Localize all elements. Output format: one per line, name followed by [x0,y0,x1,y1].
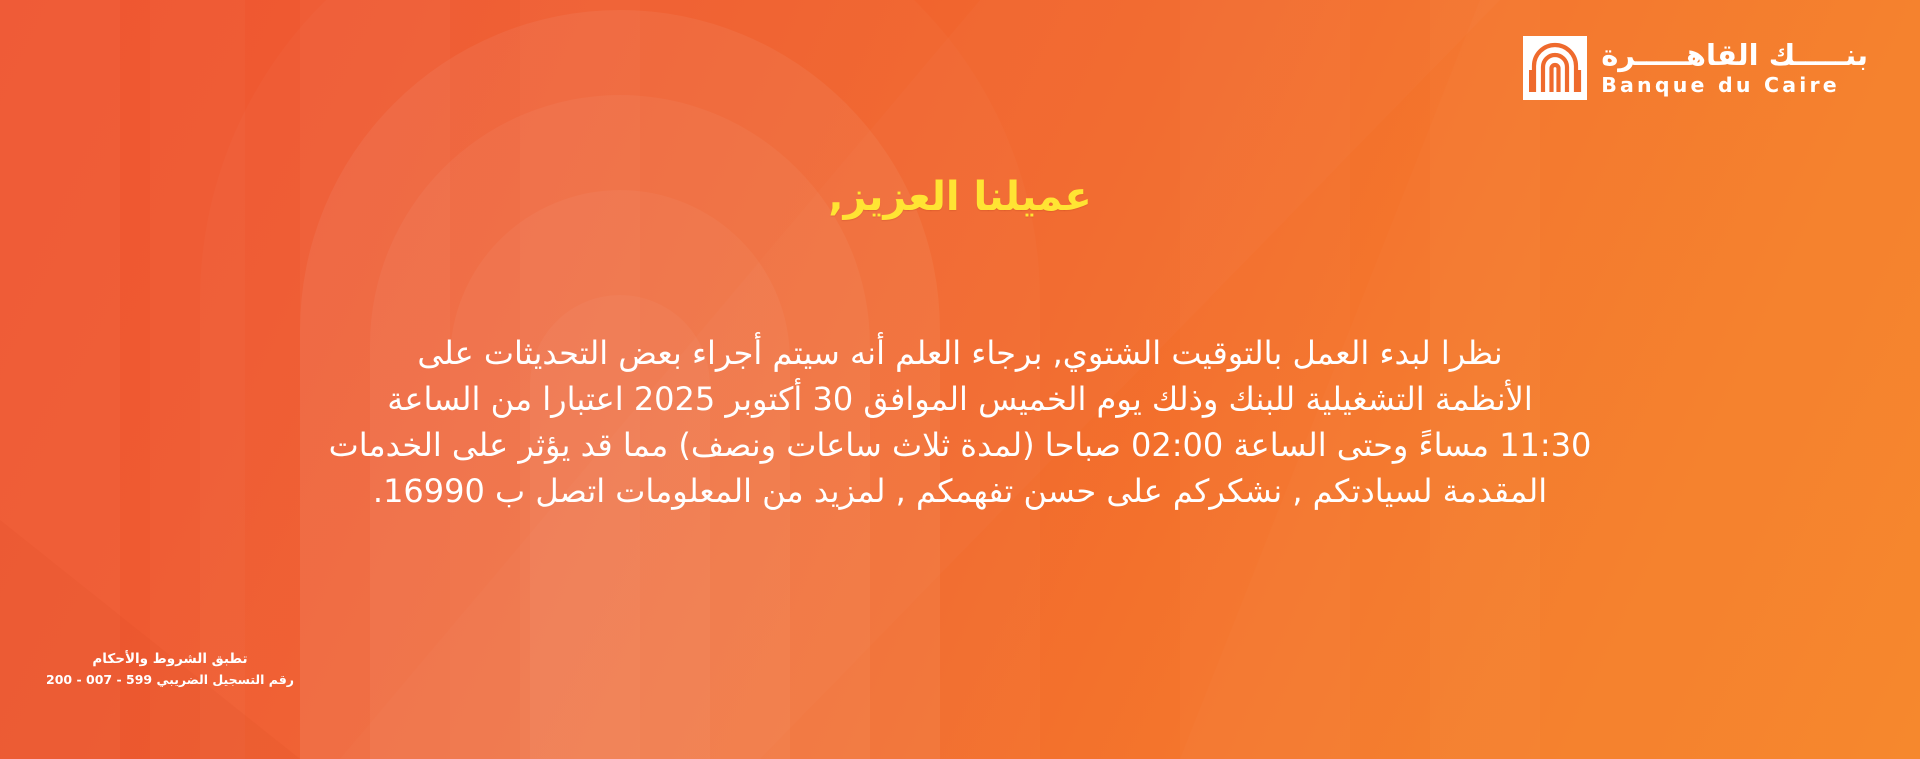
brand-name-arabic: بنـــــك القاهـــــرة [1601,41,1868,70]
notice-body: نظرا لبدء العمل بالتوقيت الشتوي, برجاء ا… [0,330,1920,514]
notice-line-1: نظرا لبدء العمل بالتوقيت الشتوي, برجاء ا… [150,330,1770,376]
notice-line-2: الأنظمة التشغيلية للبنك وذلك يوم الخميس … [150,376,1770,422]
arch-logo-icon [1523,36,1587,100]
brand-name-latin: Banque du Caire [1601,75,1840,96]
headline-greeting: عميلنا العزيز, [0,174,1920,220]
terms-and-conditions-note: تطبق الشروط والأحكام [40,651,300,667]
brand-logo[interactable]: بنـــــك القاهـــــرة Banque du Caire [1523,36,1868,100]
legal-footer: تطبق الشروط والأحكام رقم التسجيل الضريبي… [40,651,300,687]
notice-line-3: 11:30 مساءً وحتى الساعة 02:00 صباحا (لمد… [150,422,1770,468]
notice-line-4: المقدمة لسيادتكم , نشكركم على حسن تفهمكم… [150,468,1770,514]
tax-registration-number: رقم التسجيل الضريبي 599 - 007 - 200 [40,672,300,687]
brand-wordmark: بنـــــك القاهـــــرة Banque du Caire [1601,41,1868,96]
promo-banner: بنـــــك القاهـــــرة Banque du Caire عم… [0,0,1920,759]
